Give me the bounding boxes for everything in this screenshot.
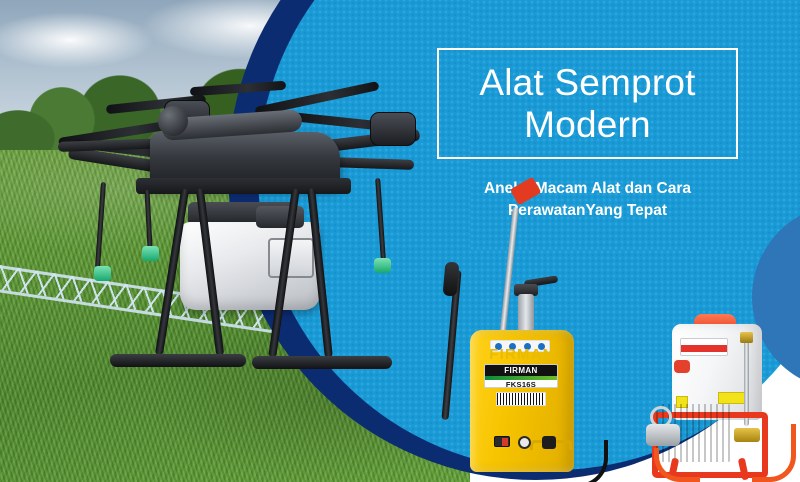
brass-nozzle-icon <box>740 332 753 343</box>
drone-landing-skid <box>252 356 392 369</box>
black-hose <box>550 440 608 482</box>
tank-embossed-brand: FIRMAN <box>480 346 564 364</box>
red-knapsack-mistblower <box>648 308 798 482</box>
nozzle-stick <box>95 182 106 268</box>
muffler <box>646 424 680 446</box>
drone-base-plate <box>136 178 351 194</box>
label-model: FKS16S <box>485 380 557 388</box>
drone-tube-end <box>158 106 188 136</box>
pressure-gauge <box>518 436 531 449</box>
spray-nozzle <box>94 266 111 281</box>
power-switch <box>494 436 510 447</box>
spray-drone <box>40 70 440 390</box>
rotor-blade <box>190 81 286 97</box>
drone-motor <box>370 112 416 146</box>
title-box: Alat Semprot Modern <box>437 48 738 159</box>
label-brand: FIRMAN <box>485 365 557 376</box>
nozzle-stick <box>144 190 152 248</box>
spray-wand-grip <box>443 261 460 296</box>
banner-canvas: Alat Semprot Modern Aneka Macam Alat dan… <box>0 0 800 482</box>
spray-nozzle <box>142 246 159 261</box>
nozzle-stick <box>375 178 386 260</box>
product-label: FIRMAN FKS16S <box>484 364 558 388</box>
orange-hose <box>752 424 796 482</box>
tank-brand-sticker <box>680 338 728 356</box>
spray-nozzle <box>374 258 391 273</box>
yellow-knapsack-sprayer: FIRMAN FIRMAN FKS16S <box>466 222 586 472</box>
barcode-icon <box>496 392 546 406</box>
banner-subtitle: Aneka Macam Alat dan Cara PerawatanYang … <box>437 178 738 223</box>
banner-title: Alat Semprot Modern <box>479 62 695 145</box>
drone-landing-skid <box>110 354 246 367</box>
tank-knob <box>674 360 690 373</box>
